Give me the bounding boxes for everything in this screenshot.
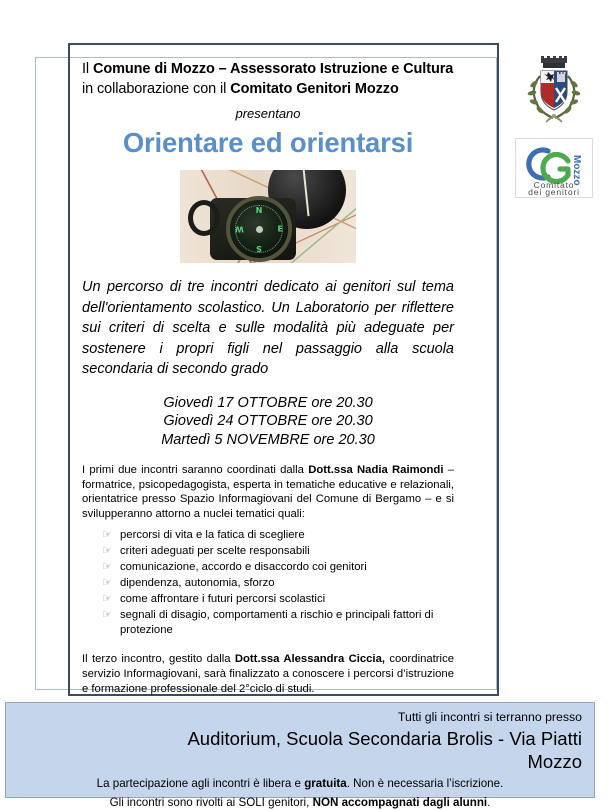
list-item: ☞ comunicazione, accordo e disaccordo co… [82,560,454,575]
list-item-label: criteri adeguati per scelte responsabili [120,545,310,557]
compass-mark-w: W [235,225,244,234]
pointing-hand-icon: ☞ [102,527,112,542]
poster-content: Il Comune di Mozzo – Assessorato Istruzi… [82,60,454,696]
organizer-line: Il Comune di Mozzo – Assessorato Istruzi… [82,60,454,99]
compass-needle-pivot [256,226,263,233]
list-item-label: comunicazione, accordo e disaccordo coi … [120,561,367,573]
list-item-label: come affrontare i futuri percorsi scolas… [120,593,325,605]
footer-note-line-1: La partecipazione agli incontri è libera… [18,776,582,792]
list-item-label: percorsi di vita e la fatica di sceglier… [120,529,305,541]
list-item-label: dipendenza, autonomia, sforzo [120,577,275,589]
venue-line-1: Auditorium, Scuola Secondaria Brolis - V… [187,728,582,749]
footer-note-line-2: Gli incontri sono rivolti ai SOLI genito… [18,795,582,810]
footer-intro-text: Tutti gli incontri si terranno presso [18,709,582,725]
date-line: Giovedì 24 OTTOBRE ore 20.30 [82,412,454,431]
svg-text:dei genitori: dei genitori [528,187,580,197]
comune-di-mozzo-crest-icon [524,52,584,124]
list-item: ☞ come affrontare i futuri percorsi scol… [82,592,454,607]
venue-footer: Tutti gli incontri si terranno presso Au… [5,702,595,798]
topics-list: ☞ percorsi di vita e la fatica di scegli… [82,528,454,638]
compass-mark-e: E [278,225,283,234]
first-meetings-paragraph: I primi due incontri saranno coordinati … [82,463,454,521]
compass-dial: N E S W [226,196,292,262]
venue-name: Auditorium, Scuola Secondaria Brolis - V… [18,727,582,773]
pointing-hand-icon: ☞ [102,559,112,574]
date-line: Martedì 5 NOVEMBRE ore 20.30 [82,431,454,450]
list-item: ☞ dipendenza, autonomia, sforzo [82,576,454,591]
poster-page: Mozzo Comitato dei genitori Il Comune di… [0,0,608,803]
venue-line-2: Mozzo [18,750,582,773]
list-item: ☞ criteri adeguati per scelte responsabi… [82,544,454,559]
compass-mark-n: N [256,205,263,214]
presentano-label: presentano [82,106,454,121]
page-title: Orientare ed orientarsi [82,127,454,159]
third-meeting-paragraph: Il terzo incontro, gestito dalla Dott.ss… [82,652,454,696]
pointing-hand-icon: ☞ [102,575,112,590]
pointing-hand-icon: ☞ [102,591,112,606]
compass-thumb-ring [188,200,220,236]
date-line: Giovedì 17 OTTOBRE ore 20.30 [82,394,454,413]
list-item: ☞ segnali di disagio, comportamenti a ri… [82,608,454,638]
dates-list: Giovedì 17 OTTOBRE ore 20.30 Giovedì 24 … [82,394,454,450]
pointing-hand-icon: ☞ [102,607,112,622]
list-item: ☞ percorsi di vita e la fatica di scegli… [82,528,454,543]
intro-paragraph: Un percorso di tre incontri dedicato ai … [82,277,454,380]
compass-on-map-photo: N E S W [180,170,356,263]
comitato-genitori-mozzo-logo-icon: Mozzo Comitato dei genitori [515,138,593,198]
list-item-label: segnali di disagio, comportamenti a risc… [120,609,433,636]
logo-stack: Mozzo Comitato dei genitori [508,52,600,198]
pointing-hand-icon: ☞ [102,543,112,558]
compass-mark-s: S [256,244,262,253]
